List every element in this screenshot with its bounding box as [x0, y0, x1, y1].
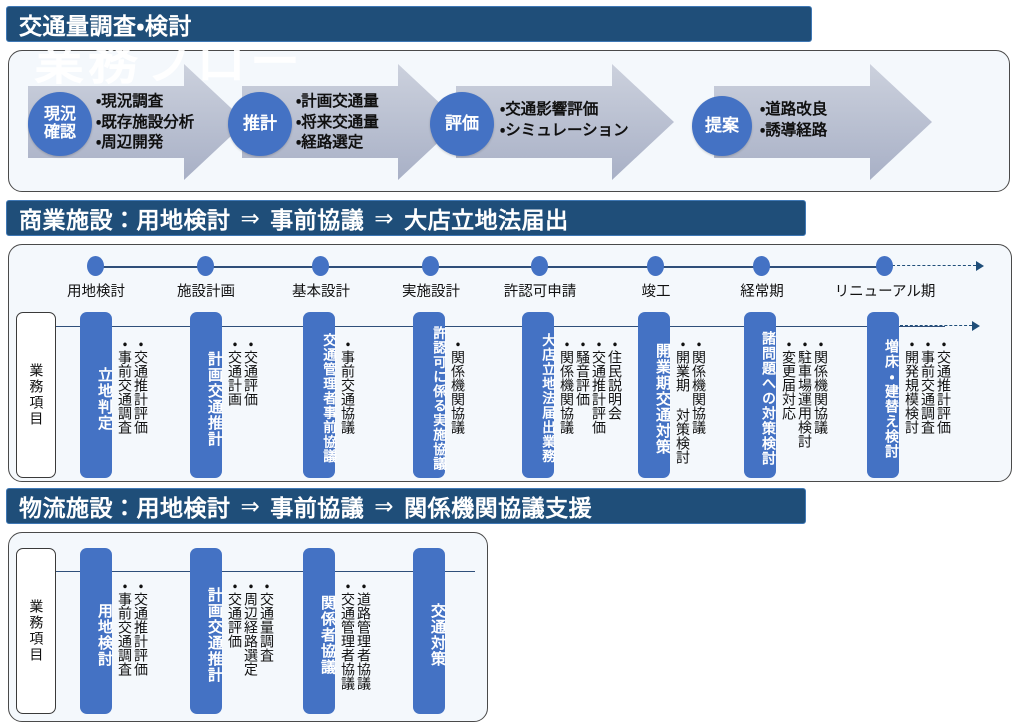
section2-task-bar-5[interactable]: 開業期交通対策	[638, 312, 670, 478]
section1-header-text: 交通量調査・検討	[19, 7, 192, 41]
section2-header: 商業施設：用地検討 ⇒ 事前協議 ⇒ 大店立地法届出	[6, 200, 806, 236]
section2-header-end: 大店立地法届出	[404, 201, 569, 235]
timeline-label-0: 用地検討	[67, 280, 125, 301]
flow-circle-3-line1: 評価	[445, 114, 479, 133]
flow-circle-4-line1: 提案	[705, 116, 739, 135]
timeline-node-7[interactable]	[876, 256, 893, 276]
section2-task-items-6: ・関係機関協議 ・駐車場運用検討 ・変更届対応	[782, 336, 828, 478]
section3-task-items-0: ・交通推計評価 ・事前交通調査	[118, 578, 148, 714]
flow-circle-1: 現況 確認	[28, 92, 92, 156]
section2-task-items-2: ・事前交通協議	[341, 336, 355, 478]
section3-row-label: 業務項目	[16, 548, 56, 714]
section2-timeline-arrowhead	[976, 261, 984, 271]
flow-circle-3: 評価	[430, 92, 494, 156]
timeline-label-1: 施設計画	[177, 280, 235, 301]
flow-circle-2-line1: 推計	[243, 114, 277, 133]
flow-bullets-2: ・計画交通量 ・将来交通量 ・経路選定	[296, 92, 379, 154]
section3-task-bar-1[interactable]: 計画交通推計	[190, 548, 222, 714]
section3-task-bar-2[interactable]: 関係者協議	[303, 548, 335, 714]
section2-header-main: 商業施設：用地検討	[19, 201, 231, 235]
section2-timeline-dash	[892, 265, 976, 266]
section2-header-arrow-1: ⇒	[231, 205, 271, 232]
timeline-node-6[interactable]	[753, 256, 770, 276]
timeline-node-5[interactable]	[647, 256, 664, 276]
flow-bullets-1: ・現況調査 ・既存施設分析 ・周辺開発	[96, 92, 194, 154]
section3-task-items-1: ・交通量調査 ・周辺経路選定 ・交通評価	[228, 578, 274, 714]
flow-bullets-3: ・交通影響評価 ・シミュレーション	[500, 100, 629, 141]
section2-task-items-4: ・住民説明会 ・交通推計評価 ・騒音評価 ・関係機関協議	[560, 336, 622, 478]
flow-circle-2: 推計	[228, 92, 292, 156]
flow-bullets-4: ・道路改良 ・誘導経路	[760, 100, 827, 141]
section2-task-items-3: ・関係機関協議	[451, 336, 465, 478]
section3-task-items-2: ・道路管理者協議 ・交通管理者協議	[341, 578, 371, 714]
flow-circle-4: 提案	[692, 96, 752, 156]
section3-header-end: 関係機関協議支援	[404, 489, 592, 523]
section3-row-rule	[55, 571, 475, 572]
section2-task-bar-1[interactable]: 計画交通推計	[190, 312, 222, 478]
section3-header-arrow-2: ⇒	[364, 493, 404, 520]
section2-task-bar-0[interactable]: 立地判定	[80, 312, 112, 478]
section3-task-bar-0[interactable]: 用地検討	[80, 548, 112, 714]
section3-header-mid: 事前協議	[270, 489, 364, 523]
section2-task-bar-6[interactable]: 諸問題への対策検討	[744, 312, 776, 478]
timeline-label-5: 竣工	[642, 280, 671, 301]
section1-header: 交通量調査・検討	[6, 6, 812, 42]
timeline-node-0[interactable]	[87, 256, 104, 276]
timeline-node-2[interactable]	[312, 256, 329, 276]
section2-row-dash	[900, 325, 972, 326]
timeline-label-3: 実施設計	[402, 280, 460, 301]
section2-row-label: 業務項目	[16, 312, 56, 478]
section3-header-main: 物流施設：用地検討	[19, 489, 231, 523]
section2-task-bar-7[interactable]: 増床・建替え検討	[867, 312, 899, 478]
section2-row-arrowhead	[972, 321, 980, 331]
section2-row-rule	[55, 326, 945, 327]
flow-circle-1-line2: 確認	[44, 124, 76, 142]
timeline-label-4: 許認可申請	[504, 280, 577, 301]
section2-task-items-0: ・交通推計評価 ・事前交通調査	[118, 336, 148, 478]
section2-task-items-7: ・交通推計評価 ・事前交通調査 ・開発規模検討	[905, 336, 951, 478]
timeline-node-4[interactable]	[531, 256, 548, 276]
diagram-page: 交通量調査・検討 業務フロー 現況 確認 ・現況調査 ・既存施設分析 ・周辺開発…	[0, 0, 1024, 723]
section2-task-bar-2[interactable]: 交通管理者事前協議	[303, 312, 335, 478]
timeline-node-3[interactable]	[422, 256, 439, 276]
section3-task-bar-3[interactable]: 交通対策	[413, 548, 445, 714]
section2-task-bar-4[interactable]: 大店立地法届出業務	[522, 312, 554, 478]
section2-header-arrow-2: ⇒	[364, 205, 404, 232]
section2-task-bar-3[interactable]: 許認可に係る実施協議	[413, 312, 445, 478]
timeline-node-1[interactable]	[197, 256, 214, 276]
section2-task-items-5: ・関係機関協議 ・開業期 対策検討	[676, 336, 706, 478]
timeline-label-6: 経常期	[740, 280, 784, 301]
flow-circle-1-line1: 現況	[44, 106, 76, 124]
section2-task-items-1: ・交通評価 ・交通計画	[228, 336, 258, 478]
section2-header-mid: 事前協議	[270, 201, 364, 235]
section3-header: 物流施設：用地検討 ⇒ 事前協議 ⇒ 関係機関協議支援	[6, 488, 806, 524]
timeline-label-2: 基本設計	[292, 280, 350, 301]
section3-header-arrow-1: ⇒	[231, 493, 271, 520]
timeline-label-7: リニューアル期	[835, 280, 936, 301]
